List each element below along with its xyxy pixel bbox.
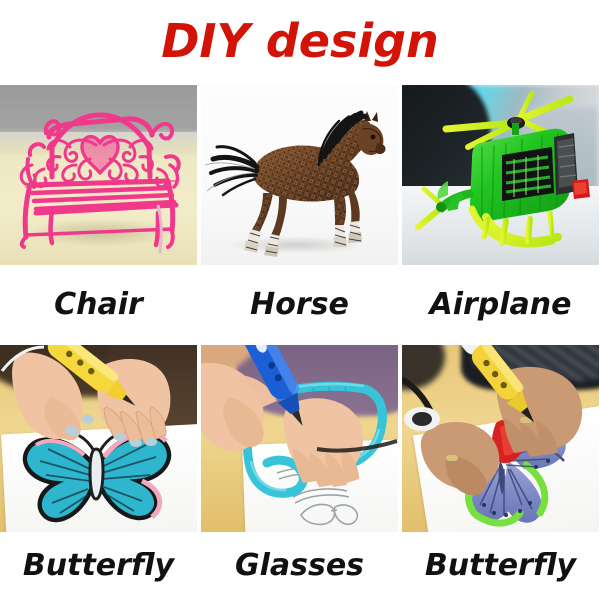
poster-header: DIY design bbox=[0, 0, 600, 85]
caption-horse: Horse bbox=[250, 290, 349, 320]
airplane-photo bbox=[402, 85, 599, 265]
gallery-row-2: Butterfly Glasses Butterfly bbox=[0, 345, 600, 600]
butterfly-purple-photo bbox=[402, 345, 599, 532]
gallery-row-2-labels: Butterfly Glasses Butterfly bbox=[0, 532, 600, 600]
label-cell-airplane: Airplane bbox=[402, 265, 599, 345]
caption-airplane: Airplane bbox=[429, 290, 571, 320]
glasses-photo bbox=[201, 345, 398, 532]
caption-chair: Chair bbox=[54, 290, 143, 320]
chair-illustration bbox=[0, 85, 197, 265]
product-gallery-grid: Chair Horse Airplane bbox=[0, 85, 600, 600]
diy-design-poster: DIY design bbox=[0, 0, 600, 600]
gallery-item-glasses[interactable] bbox=[201, 345, 398, 532]
gallery-item-horse[interactable] bbox=[201, 85, 398, 265]
label-cell-glasses: Glasses bbox=[201, 532, 398, 600]
caption-butterfly-blue: Butterfly bbox=[23, 551, 174, 581]
caption-glasses: Glasses bbox=[235, 551, 364, 581]
gallery-row-1: Chair Horse Airplane bbox=[0, 85, 600, 345]
label-cell-butterfly-purple: Butterfly bbox=[402, 532, 599, 600]
butterfly-blue-photo bbox=[0, 345, 197, 532]
gallery-row-2-images bbox=[0, 345, 600, 532]
horse-photo bbox=[201, 85, 398, 265]
hands-and-pen bbox=[0, 345, 197, 532]
hands-and-pen bbox=[201, 345, 398, 532]
label-cell-horse: Horse bbox=[201, 265, 398, 345]
gallery-row-1-images bbox=[0, 85, 600, 265]
horse-illustration bbox=[201, 85, 398, 265]
gallery-row-1-labels: Chair Horse Airplane bbox=[0, 265, 600, 345]
gallery-item-butterfly-blue[interactable] bbox=[0, 345, 197, 532]
hands-and-pen bbox=[402, 345, 599, 532]
caption-butterfly-purple: Butterfly bbox=[425, 551, 576, 581]
gallery-item-airplane[interactable] bbox=[402, 85, 599, 265]
gallery-item-chair[interactable] bbox=[0, 85, 197, 265]
label-cell-chair: Chair bbox=[0, 265, 197, 345]
helicopter-illustration bbox=[402, 85, 599, 265]
gallery-item-butterfly-purple[interactable] bbox=[402, 345, 599, 532]
label-cell-butterfly-blue: Butterfly bbox=[0, 532, 197, 600]
page-title: DIY design bbox=[161, 18, 439, 64]
chair-photo bbox=[0, 85, 197, 265]
